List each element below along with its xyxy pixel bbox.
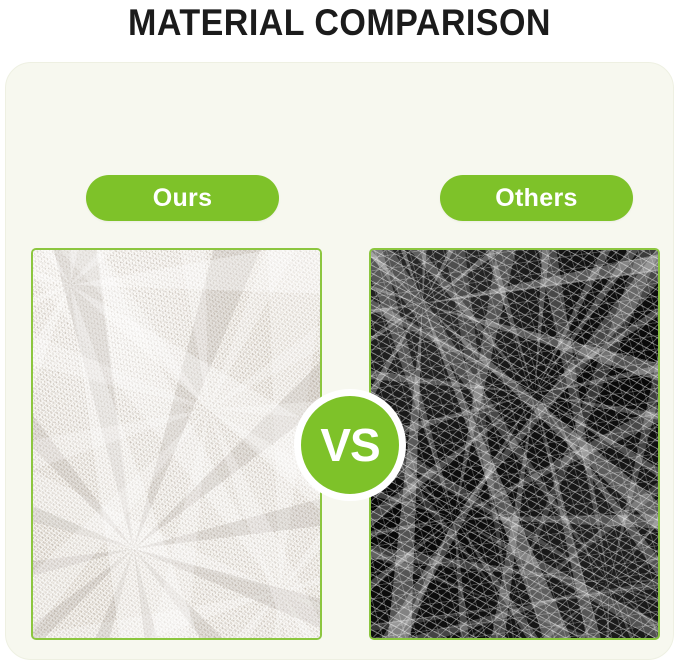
material-comparison-page: MATERIAL COMPARISON Ours Others VS HIGH …: [0, 0, 679, 665]
badge-others-label: Others: [495, 184, 577, 213]
comparison-card: Ours Others VS HIGH DENSITY SPARSE CPRD: [5, 62, 674, 660]
material-panel-others: [369, 248, 660, 640]
badge-others: Others: [440, 175, 633, 221]
material-panel-ours: [31, 248, 322, 640]
sparse-fiber-texture-image: [371, 250, 658, 638]
page-title: MATERIAL COMPARISON: [27, 2, 652, 44]
caption-ours: HIGH DENSITY: [31, 659, 322, 660]
caption-others: SPARSE CPRD: [369, 659, 660, 660]
badge-ours-label: Ours: [153, 184, 213, 213]
vs-badge: VS: [294, 389, 406, 501]
badge-ours: Ours: [86, 175, 279, 221]
dense-felt-texture-image: [33, 250, 320, 638]
vs-badge-label: VS: [320, 418, 379, 472]
